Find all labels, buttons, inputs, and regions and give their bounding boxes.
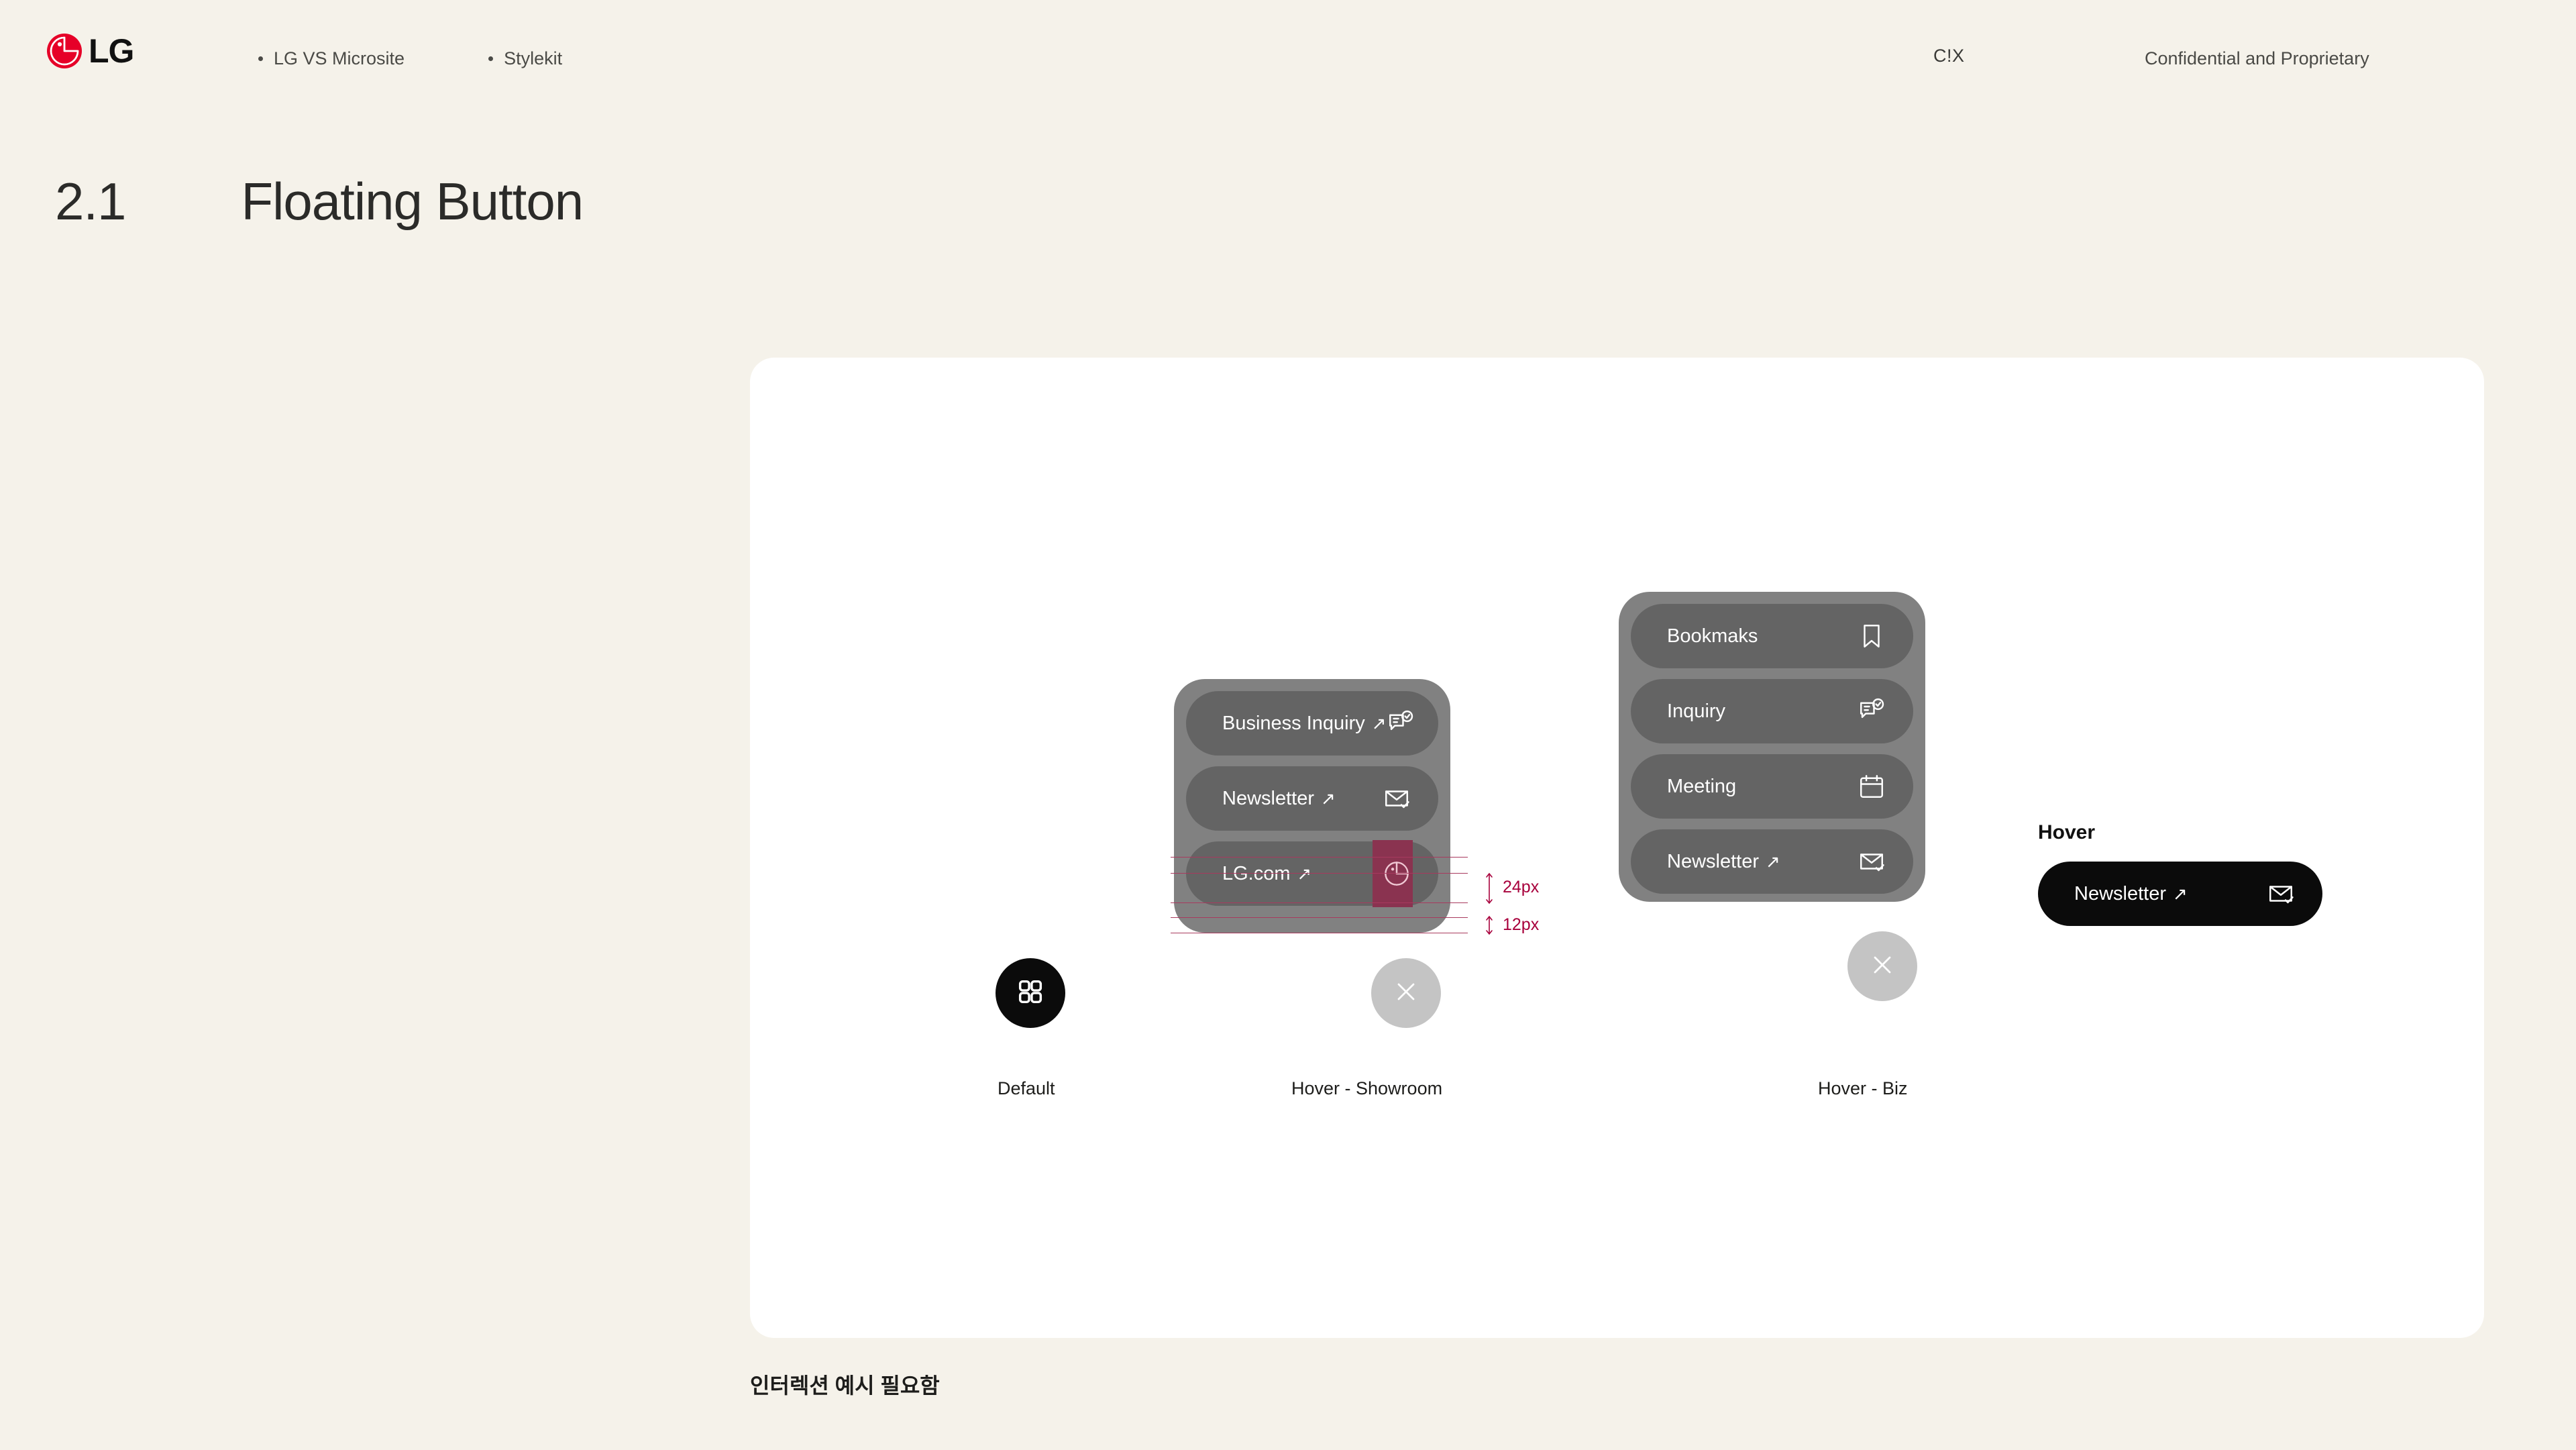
external-link-arrow-icon: ↗ xyxy=(1372,715,1387,732)
hover-sample-title: Hover xyxy=(2038,821,2322,844)
menu-item-label: Newsletter ↗ xyxy=(1667,851,1780,873)
guide-line-4 xyxy=(1171,917,1468,918)
close-icon xyxy=(1868,950,1897,983)
dimension-arrow-24 xyxy=(1484,872,1495,908)
lg-logo: LG xyxy=(46,32,133,70)
caption-hover-biz: Hover - Biz xyxy=(1818,1078,1908,1099)
breadcrumb-item-0[interactable]: LG VS Microsite xyxy=(258,48,405,69)
breadcrumb-label-1: Stylekit xyxy=(504,48,562,69)
menu-item-newsletter[interactable]: Newsletter ↗ xyxy=(1186,766,1438,831)
close-icon xyxy=(1391,977,1421,1010)
menu-panel-showroom: Business Inquiry ↗ Newsletter ↗ xyxy=(1174,679,1450,933)
footnote-text: 인터렉션 예시 필요함 xyxy=(750,1369,940,1400)
confidential-notice: Confidential and Proprietary xyxy=(2145,48,2369,69)
guide-line-1 xyxy=(1171,857,1468,858)
menu-item-bookmarks[interactable]: Bookmaks xyxy=(1631,604,1913,668)
page-header: LG LG VS Microsite Stylekit C!X Confiden… xyxy=(0,0,2576,121)
menu-item-text: Business Inquiry xyxy=(1222,713,1365,735)
page-title-number: 2.1 xyxy=(55,171,125,232)
breadcrumb-label-0: LG VS Microsite xyxy=(274,48,405,69)
menu-item-label: Business Inquiry ↗ xyxy=(1222,713,1387,735)
chat-check-icon xyxy=(1853,692,1890,730)
page-title-text: Floating Button xyxy=(241,171,583,232)
fab-close-biz-button[interactable] xyxy=(1847,931,1917,1001)
bookmark-icon xyxy=(1853,617,1890,655)
fab-default-button[interactable] xyxy=(996,958,1065,1028)
menu-item-text: Bookmaks xyxy=(1667,625,1758,648)
hover-sample-group: Hover Newsletter ↗ xyxy=(2038,821,2322,926)
guide-line-3 xyxy=(1171,902,1468,903)
menu-item-lg-com[interactable]: LG.com ↗ xyxy=(1186,841,1438,906)
fab-close-showroom-button[interactable] xyxy=(1371,958,1441,1028)
breadcrumb: LG VS Microsite Stylekit xyxy=(258,48,562,69)
menu-item-label: Inquiry xyxy=(1667,701,1732,723)
breadcrumb-item-1[interactable]: Stylekit xyxy=(488,48,562,69)
guide-line-5 xyxy=(1171,933,1468,933)
external-link-arrow-icon: ↗ xyxy=(1766,853,1780,870)
bullet-dot-icon xyxy=(488,56,493,61)
mail-check-icon xyxy=(1378,780,1415,817)
menu-item-label: Bookmaks xyxy=(1667,625,1764,648)
menu-item-text: LG.com xyxy=(1222,863,1291,885)
menu-item-text: Inquiry xyxy=(1667,701,1725,723)
bullet-dot-icon xyxy=(258,56,263,61)
chat-check-icon xyxy=(1387,705,1415,742)
external-link-arrow-icon: ↗ xyxy=(1321,790,1336,807)
mail-check-icon xyxy=(2262,875,2300,913)
page-title: 2.1 Floating Button xyxy=(55,171,583,232)
menu-item-label: Meeting xyxy=(1667,776,1743,798)
menu-item-label: Newsletter ↗ xyxy=(1222,788,1336,810)
dimension-label-12: 12px xyxy=(1503,915,1539,935)
menu-panel-biz: Bookmaks Inquiry Meeting xyxy=(1619,592,1925,902)
dimension-arrow-12 xyxy=(1484,915,1495,939)
menu-item-newsletter-biz[interactable]: Newsletter ↗ xyxy=(1631,829,1913,894)
dimension-label-24: 24px xyxy=(1503,878,1539,897)
mail-check-icon xyxy=(1853,843,1890,880)
menu-item-inquiry[interactable]: Inquiry xyxy=(1631,679,1913,743)
menu-item-text: Newsletter xyxy=(1222,788,1314,810)
grid-icon xyxy=(1015,976,1046,1011)
menu-item-meeting[interactable]: Meeting xyxy=(1631,754,1913,819)
brand-cix-logo: C!X xyxy=(1933,46,1965,66)
menu-item-text: Newsletter xyxy=(2074,883,2166,905)
caption-hover-showroom: Hover - Showroom xyxy=(1291,1078,1442,1099)
caption-default: Default xyxy=(998,1078,1055,1099)
menu-item-text: Newsletter xyxy=(1667,851,1759,873)
calendar-icon xyxy=(1853,768,1890,805)
menu-item-text: Meeting xyxy=(1667,776,1736,798)
external-link-arrow-icon: ↗ xyxy=(1297,865,1312,882)
guide-line-2 xyxy=(1171,873,1468,874)
external-link-arrow-icon: ↗ xyxy=(2173,885,2188,902)
lg-wordmark: LG xyxy=(89,34,133,68)
lg-symbol-icon xyxy=(46,32,83,70)
lg-circle-icon xyxy=(1378,855,1415,892)
menu-item-label: Newsletter ↗ xyxy=(2074,883,2188,905)
menu-item-label: LG.com ↗ xyxy=(1222,863,1311,885)
hover-sample-pill[interactable]: Newsletter ↗ xyxy=(2038,862,2322,926)
menu-item-business-inquiry[interactable]: Business Inquiry ↗ xyxy=(1186,691,1438,756)
